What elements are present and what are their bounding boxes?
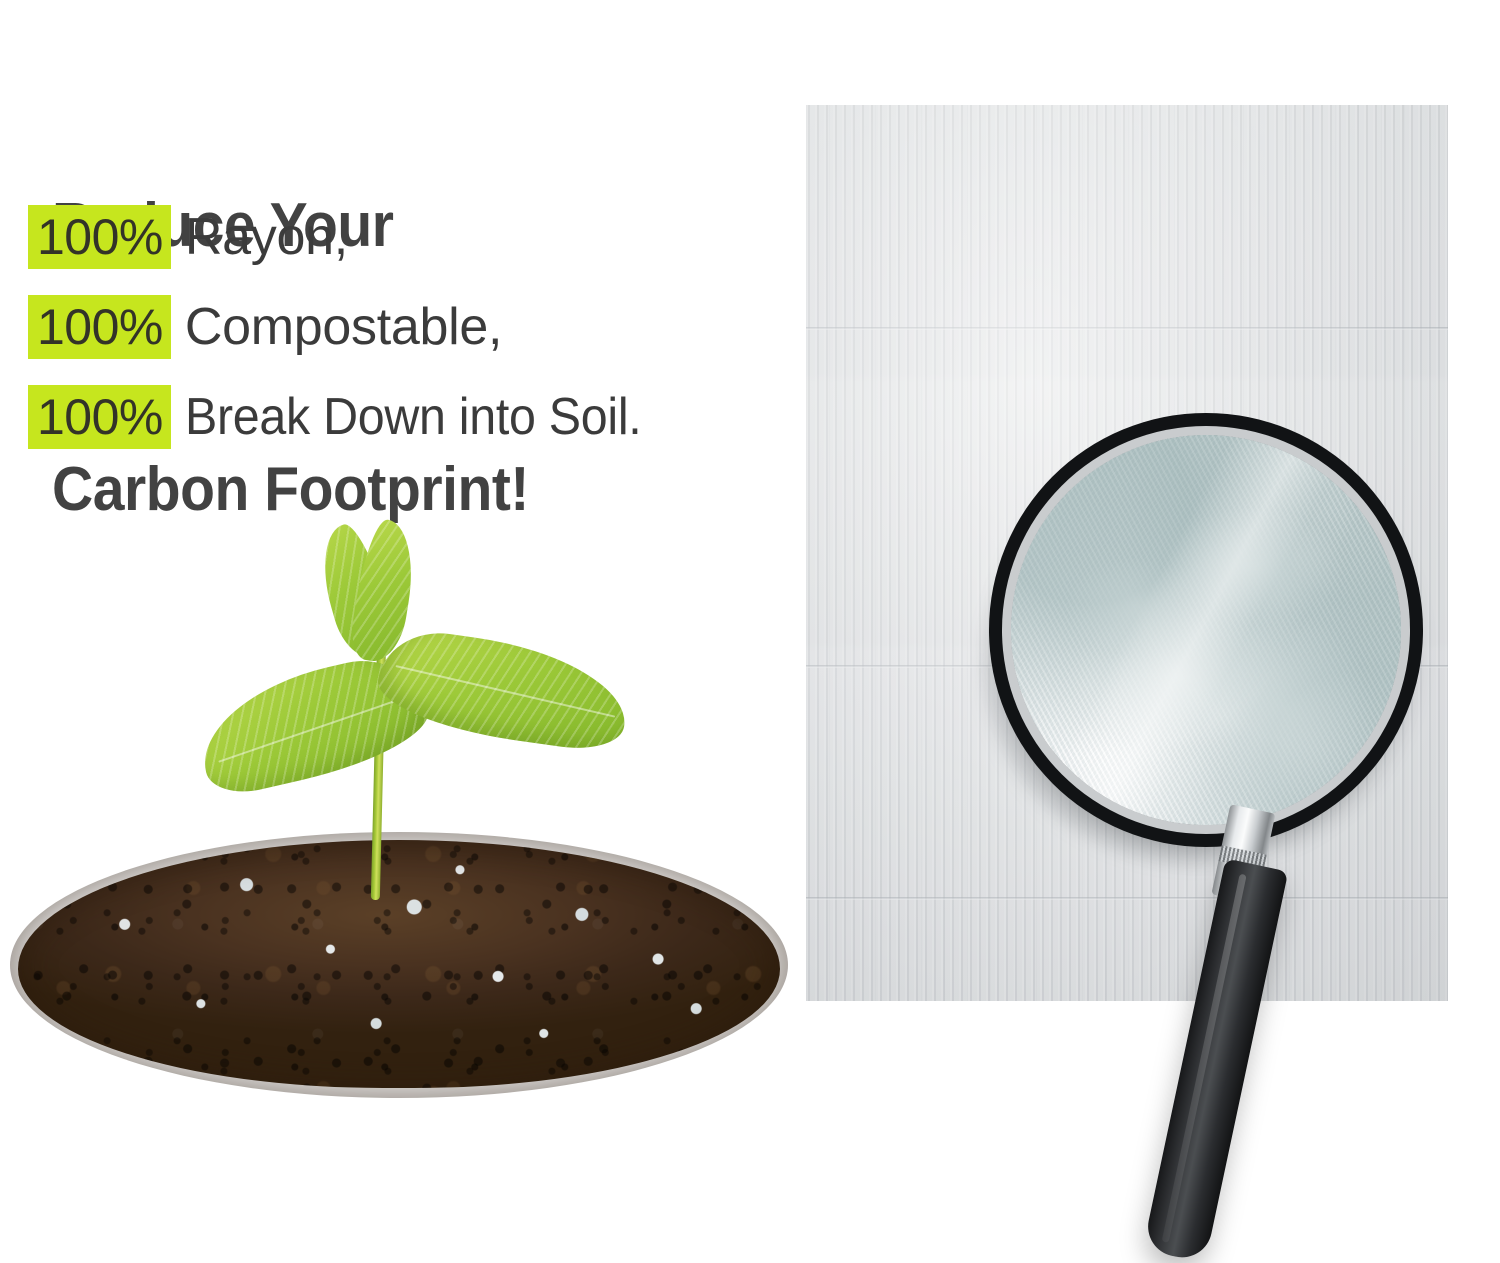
claim-percent-badge: 100%: [28, 205, 171, 269]
seedling-photo: [0, 500, 800, 1120]
claim-label: Compostable,: [185, 295, 502, 359]
handle-highlight: [1161, 874, 1247, 1243]
promo-banner: Reduce Your Carbon Footprint! 100% Rayon…: [0, 0, 1500, 1172]
claims-list: 100% Rayon, 100% Compostable, 100% Break…: [28, 205, 828, 449]
claim-percent-badge: 100%: [28, 385, 171, 449]
claim-label: Break Down into Soil.: [185, 385, 641, 449]
claim-item-breakdown: 100% Break Down into Soil.: [28, 385, 828, 449]
magnifier-handle: [1143, 858, 1289, 1263]
magnifying-glass: [806, 105, 1448, 1165]
claim-item-compostable: 100% Compostable,: [28, 295, 828, 359]
magnifier-lens: [1011, 435, 1401, 825]
lens-glare: [1011, 435, 1401, 825]
claim-percent-badge: 100%: [28, 295, 171, 359]
magnifier-photo: [806, 105, 1448, 1001]
claim-label: Rayon,: [185, 205, 348, 269]
claim-item-rayon: 100% Rayon,: [28, 205, 828, 269]
soil-mound: [18, 840, 780, 1088]
